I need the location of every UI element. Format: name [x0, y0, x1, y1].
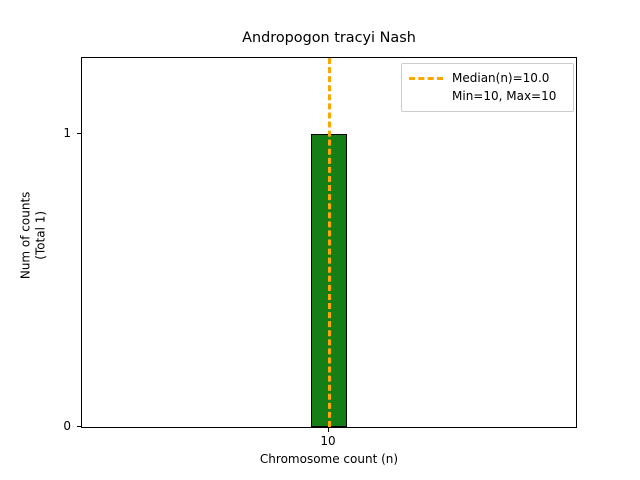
legend-entry-minmax: Min=10, Max=10	[409, 87, 566, 105]
legend-label-minmax: Min=10, Max=10	[452, 89, 556, 103]
legend-label-median: Median(n)=10.0	[452, 71, 549, 85]
x-tick-mark-10	[328, 428, 329, 432]
y-tick-label-1: 1	[41, 126, 71, 140]
dashed-line-icon	[409, 77, 443, 80]
legend: Median(n)=10.0 Min=10, Max=10	[401, 63, 574, 112]
x-tick-label-10: 10	[298, 434, 358, 448]
legend-entry-median: Median(n)=10.0	[409, 69, 566, 87]
y-axis-label: Num of counts(Total 1)	[19, 120, 50, 350]
median-line	[328, 58, 331, 427]
chart-title: Andropogon tracyi Nash	[81, 30, 577, 46]
matplotlib-figure: Andropogon tracyi Nash Num of counts(Tot…	[0, 0, 640, 480]
x-axis-label: Chromosome count (n)	[81, 452, 577, 466]
plot-area: Median(n)=10.0 Min=10, Max=10	[81, 57, 577, 428]
y-axis-label-line2: (Total 1)	[34, 211, 48, 260]
y-tick-label-0: 0	[41, 419, 71, 433]
y-axis-label-line1: Num of counts	[19, 192, 33, 280]
